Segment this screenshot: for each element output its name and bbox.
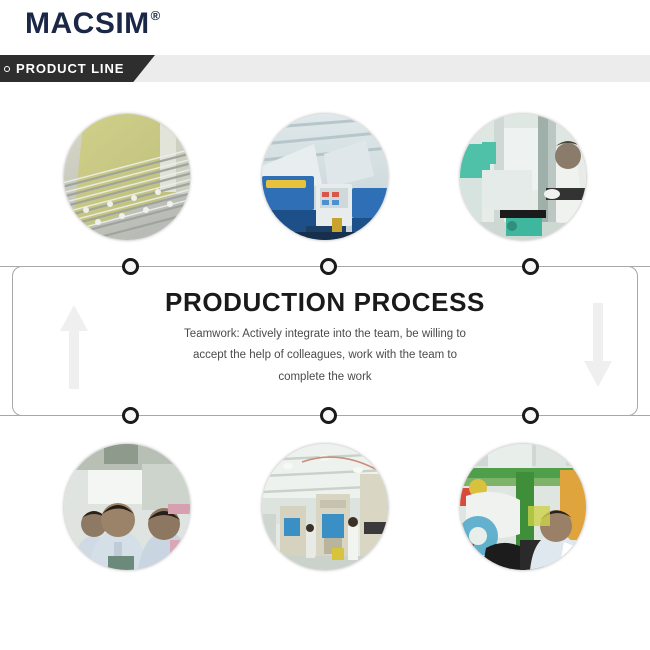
process-node-top-1 bbox=[122, 258, 139, 275]
process-node-top-2 bbox=[320, 258, 337, 275]
process-node-top-3 bbox=[522, 258, 539, 275]
photo-operator-green-line-image bbox=[460, 444, 586, 570]
photo-factory-floor-presses-image bbox=[262, 444, 388, 570]
circle-bullet-icon bbox=[4, 66, 10, 72]
product-line-label-group: PRODUCT LINE bbox=[4, 55, 124, 82]
photo-factory-floor-presses[interactable] bbox=[262, 444, 388, 570]
process-node-bottom-2 bbox=[320, 407, 337, 424]
process-node-bottom-3 bbox=[522, 407, 539, 424]
photo-workers-inspection-image bbox=[64, 444, 190, 570]
process-node-bottom-1 bbox=[122, 407, 139, 424]
photo-blue-press-machines-image bbox=[262, 114, 388, 240]
photo-conveyor-rollers-image bbox=[64, 114, 190, 240]
photo-operator-green-line[interactable] bbox=[460, 444, 586, 570]
product-line-label: PRODUCT LINE bbox=[16, 61, 124, 76]
photo-conveyor-rollers[interactable] bbox=[64, 114, 190, 240]
photo-blue-press-machines[interactable] bbox=[262, 114, 388, 240]
process-description: Teamwork: Actively integrate into the te… bbox=[170, 324, 480, 388]
brand-logo-text: MACSIM bbox=[25, 7, 150, 40]
registered-trademark-icon: ® bbox=[151, 8, 161, 23]
page-header: MACSIM® PRODUCT LINE bbox=[0, 0, 650, 92]
process-title: PRODUCTION PROCESS bbox=[12, 289, 638, 316]
photo-operator-teal-machine[interactable] bbox=[460, 114, 586, 240]
photo-workers-inspection[interactable] bbox=[64, 444, 190, 570]
photo-operator-teal-machine-image bbox=[460, 114, 586, 240]
brand-logo: MACSIM® bbox=[25, 9, 160, 39]
